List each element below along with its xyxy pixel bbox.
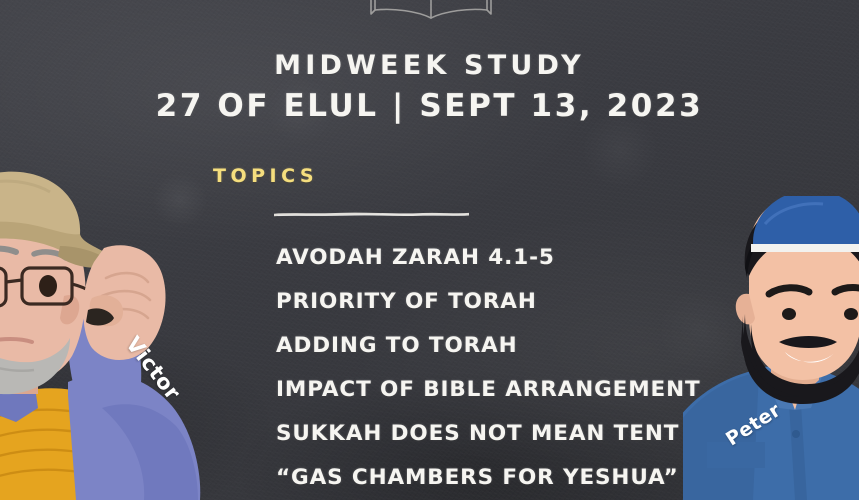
victor-illustration [0, 150, 224, 500]
peter-illustration [683, 196, 859, 500]
topics-heading: TOPICS [213, 165, 318, 187]
topic-item: ADDING TO TORAH [276, 324, 716, 368]
topics-list: AVODAH ZARAH 4.1-5 PRIORITY OF TORAH ADD… [276, 236, 716, 500]
open-book-chalk-icon [365, 0, 497, 26]
chalk-divider [274, 212, 469, 217]
topic-item: SUKKAH DOES NOT MEAN TENT [276, 412, 716, 456]
page-title: MIDWEEK STUDY [0, 50, 859, 81]
topic-item: PRIORITY OF TORAH [276, 280, 716, 324]
slide-canvas: MIDWEEK STUDY 27 OF ELUL | SEPT 13, 2023… [0, 0, 859, 500]
topic-item: IMPACT OF BIBLE ARRANGEMENT [276, 368, 716, 412]
study-date-line: 27 OF ELUL | SEPT 13, 2023 [0, 88, 859, 124]
topic-item: AVODAH ZARAH 4.1-5 [276, 236, 716, 280]
topic-item: “GAS CHAMBERS FOR YESHUA” [276, 456, 716, 500]
